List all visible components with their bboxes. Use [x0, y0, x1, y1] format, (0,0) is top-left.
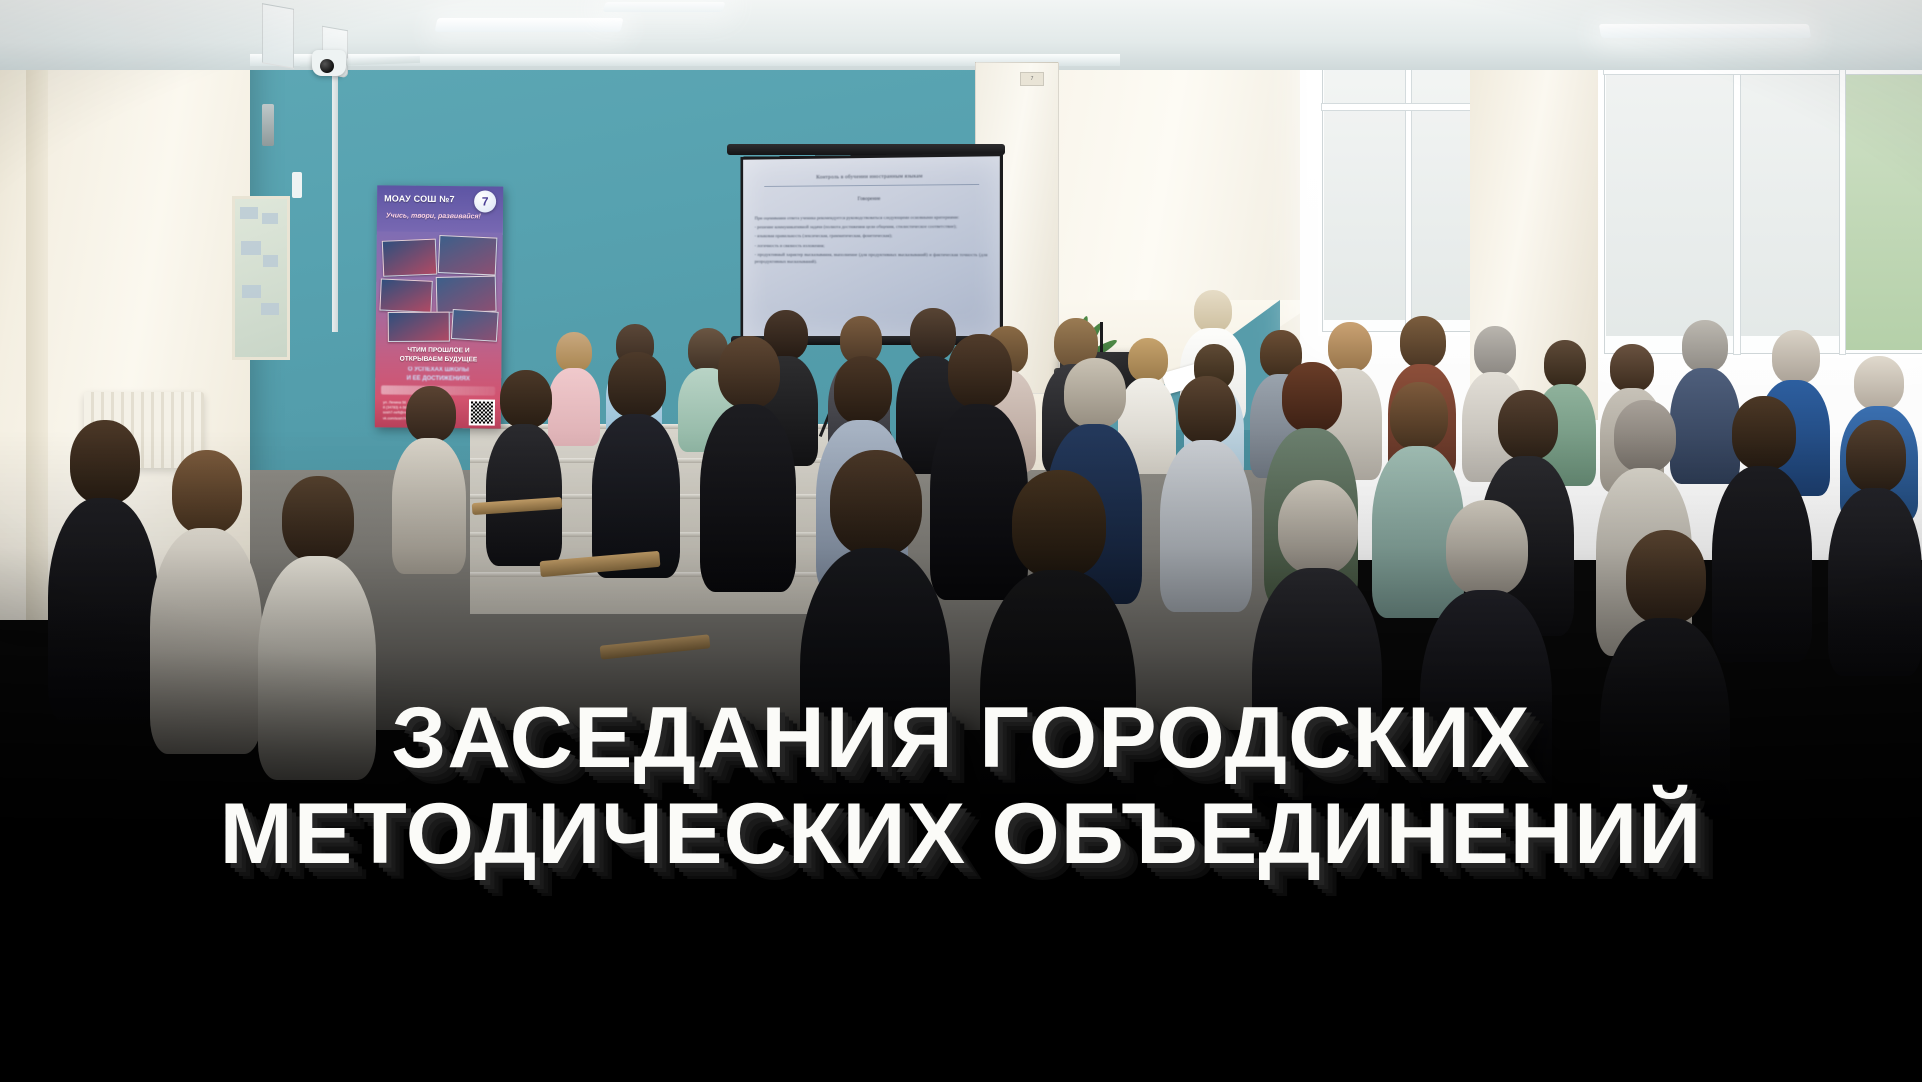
light-switch	[292, 172, 302, 198]
event-photograph: 7 МОАУ СОШ №7 7 Учись, твори, развивайся…	[0, 0, 1922, 1082]
camera-lens-icon	[320, 59, 334, 73]
slide-title: Контроль в обучении иностранным языкам	[743, 173, 1000, 182]
audience	[0, 300, 1922, 940]
attendee	[1160, 376, 1252, 606]
attendee	[258, 476, 376, 776]
wall-plate	[262, 104, 274, 146]
attendee	[980, 470, 1136, 840]
screenshot-frame: 7 МОАУ СОШ №7 7 Учись, твори, развивайся…	[0, 0, 1922, 1082]
wall-vent	[262, 3, 294, 69]
ceiling-light	[603, 2, 726, 12]
cable-conduit	[332, 62, 338, 332]
banner-number-badge: 7	[474, 190, 496, 212]
slide-bullet: - решение коммуникативной задачи (полнот…	[755, 223, 988, 231]
attendee	[592, 352, 680, 572]
attendee	[1420, 500, 1552, 820]
attendee	[392, 386, 466, 566]
door-sign: 7	[1020, 72, 1044, 86]
slide-divider	[764, 184, 979, 187]
attendee	[1252, 480, 1382, 800]
banner-motto: Учись, твори, развивайся!	[386, 212, 481, 220]
attendee	[800, 450, 950, 810]
slide-bullet: При оценивании ответа ученика рекомендуе…	[755, 213, 988, 221]
attendee	[486, 370, 562, 560]
security-camera-icon	[312, 50, 346, 76]
slide-body: При оценивании ответа ученика рекомендуе…	[755, 213, 988, 267]
slide-subtitle: Говорение	[743, 195, 1000, 203]
attendee	[48, 420, 158, 720]
slide-bullet: - языковая правильность (лексическая, гр…	[755, 232, 988, 240]
banner-school-name: МОАУ СОШ №7	[384, 193, 455, 204]
attendee	[700, 336, 796, 586]
attendee	[1828, 420, 1922, 670]
ceiling-light	[1599, 24, 1811, 38]
slide-bullet: - логичность и связность изложения;	[755, 241, 988, 248]
slide-bullet: - продуктивный характер высказывания, вы…	[755, 251, 988, 266]
attendee	[150, 450, 262, 750]
ceiling-light	[435, 18, 624, 32]
attendee	[1600, 530, 1730, 850]
